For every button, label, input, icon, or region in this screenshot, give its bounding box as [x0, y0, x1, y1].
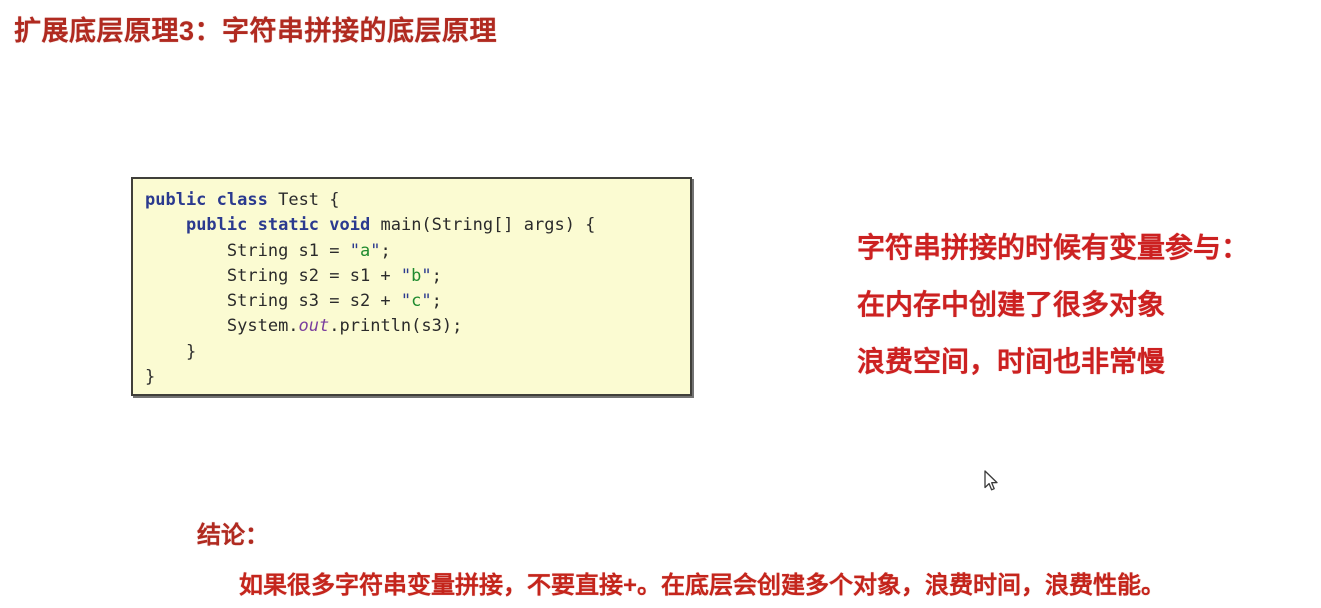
code-indent-3: [145, 266, 227, 286]
code-token-system: System.: [227, 316, 299, 336]
mouse-pointer-icon: [983, 470, 1001, 494]
code-token-classname: Test {: [268, 190, 340, 210]
code-indent-4: [145, 291, 227, 311]
code-token-class: class: [217, 190, 268, 210]
code-token-quote-open-b: ": [401, 266, 411, 286]
code-token-string-a: a: [360, 241, 370, 261]
code-token-string-b: b: [411, 266, 421, 286]
right-annotation-line-2: 在内存中创建了很多对象: [857, 276, 1317, 333]
code-indent-2: [145, 241, 227, 261]
code-token-quote-open-c: ": [401, 291, 411, 311]
right-annotation-line-3: 浪费空间，时间也非常慢: [857, 333, 1317, 390]
code-token-quote-open-a: ": [350, 241, 360, 261]
code-token-println-call: .println(s3);: [329, 316, 462, 336]
code-token-s3-decl: String s3 = s2 +: [227, 291, 401, 311]
code-token-quote-close-c: ": [421, 291, 431, 311]
code-token-semicolon-3: ;: [432, 291, 442, 311]
right-annotation-block: 字符串拼接的时候有变量参与： 在内存中创建了很多对象 浪费空间，时间也非常慢: [857, 219, 1317, 390]
conclusion-text: 如果很多字符串变量拼接，不要直接+。在底层会创建多个对象，浪费时间，浪费性能。: [239, 565, 1165, 600]
code-token-public-2: public: [186, 215, 247, 235]
code-token-semicolon-1: ;: [380, 241, 390, 261]
code-token-s1-decl: String s1 =: [227, 241, 350, 261]
code-indent: [145, 215, 186, 235]
conclusion-label: 结论：: [197, 515, 269, 550]
code-token-void: void: [329, 215, 370, 235]
code-token-quote-close-a: ": [370, 241, 380, 261]
code-token-string-c: c: [411, 291, 421, 311]
right-annotation-line-1: 字符串拼接的时候有变量参与：: [857, 219, 1317, 276]
code-token-static: static: [258, 215, 319, 235]
code-token-semicolon-2: ;: [432, 266, 442, 286]
code-block: public class Test { public static void m…: [131, 177, 692, 396]
code-token-s2-decl: String s2 = s1 +: [227, 266, 401, 286]
code-content: public class Test { public static void m…: [133, 179, 690, 390]
code-token-main-signature: main(String[] args) {: [370, 215, 595, 235]
code-indent-5: [145, 316, 227, 336]
code-token-close-outer-brace: }: [145, 367, 155, 387]
code-token-out-field: out: [299, 316, 330, 336]
code-token-close-inner-brace: }: [145, 342, 196, 362]
page-title: 扩展底层原理3：字符串拼接的底层原理: [14, 9, 497, 48]
code-token-public: public: [145, 190, 206, 210]
code-token-quote-close-b: ": [421, 266, 431, 286]
